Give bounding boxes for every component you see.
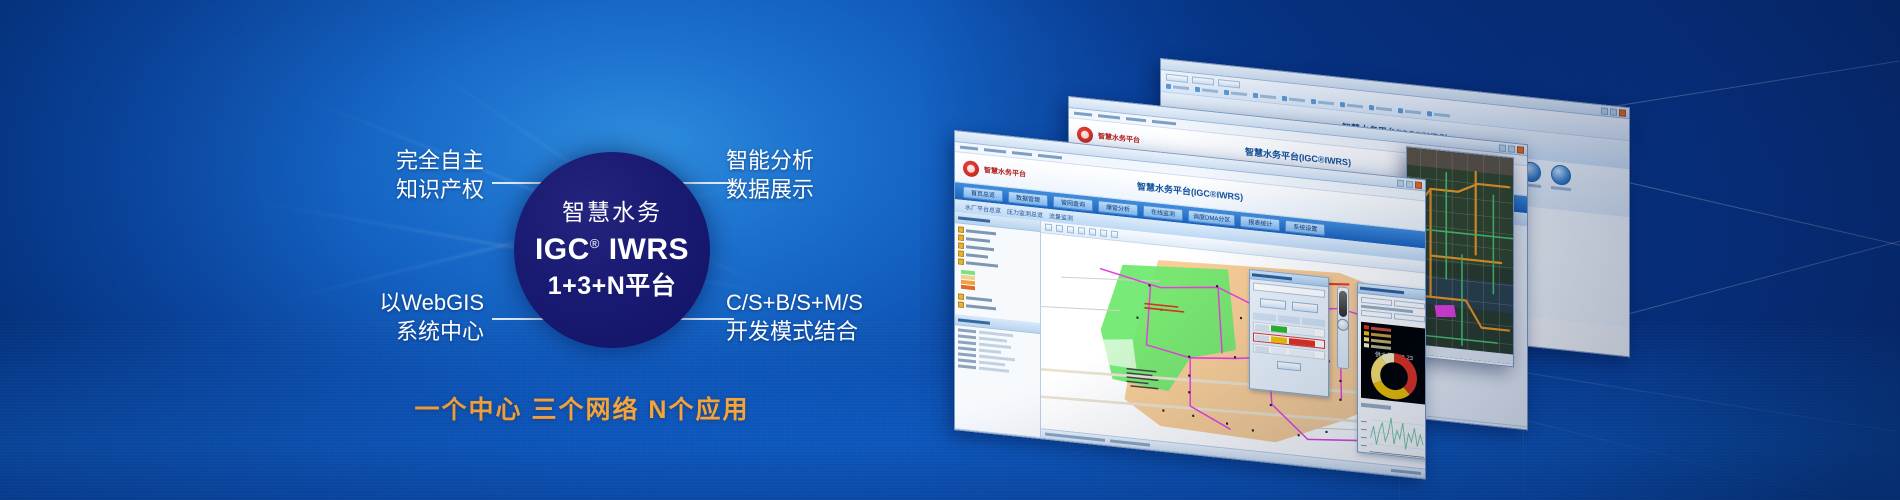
app-title-front: 智慧水务平台(IGC®IWRS) [1137, 179, 1243, 203]
hub-platform-model: 1+3+N平台 [548, 274, 677, 299]
gis-left-panels[interactable] [955, 212, 1041, 437]
water-balance-panel[interactable]: 供水量 152.23 [1357, 282, 1425, 460]
donut-chart-container: 供水量 152.23 [1361, 322, 1425, 405]
nav-tab-monitoring[interactable]: 在线监测 [1143, 204, 1183, 220]
hub-product-name: IGC® IWRS [535, 235, 689, 265]
feature-bottom-left-line1: 以WebGIS [379, 290, 484, 315]
dialog-execute-button[interactable] [1277, 361, 1301, 372]
screenshot-stack: 智慧水务平台(IGC®IWRS) 智慧水务平台 智慧水务平台(IGC®IWRS)… [960, 0, 1900, 500]
identify-tool-icon[interactable] [1100, 229, 1107, 237]
registered-mark-icon: ® [590, 236, 600, 251]
zoom-out-tool-icon[interactable] [1067, 226, 1074, 234]
connector-line-bottom-right [674, 318, 734, 320]
map-canvas[interactable]: 供水量 152.23 [1041, 233, 1425, 468]
feature-top-left: 完全自主 知识产权 [364, 146, 484, 204]
feature-top-left-line2: 知识产权 [364, 175, 484, 204]
measure-tool-icon[interactable] [1089, 228, 1096, 236]
window-front-browser-gis[interactable]: 智慧水务平台 智慧水务平台(IGC®IWRS) 首页总览 数据管理 管网查询 爆… [954, 130, 1426, 480]
window-controls-back[interactable] [1601, 107, 1626, 117]
feature-top-right: 智能分析 数据展示 [726, 146, 814, 204]
nav-tab-data[interactable]: 数据管理 [1008, 190, 1048, 206]
feature-top-left-line1: 完全自主 [396, 148, 484, 173]
tagline: 一个中心 三个网络 N个应用 [352, 390, 812, 426]
line-chart-pressure [1358, 408, 1425, 459]
feature-bottom-left-line2: 系统中心 [352, 317, 484, 346]
feature-bottom-right: C/S+B/S+M/S 开发模式结合 [726, 288, 863, 346]
zoom-slider-knob[interactable] [1339, 290, 1347, 317]
platform-hub-circle: 智慧水务 IGC® IWRS 1+3+N平台 [514, 152, 710, 348]
burst-analysis-dialog[interactable] [1249, 269, 1329, 397]
dialog-confirm-button[interactable] [1260, 298, 1286, 310]
select-tool-icon[interactable] [1078, 227, 1085, 235]
map-navigation-control-front[interactable] [1337, 286, 1349, 369]
pan-pad-icon[interactable] [1337, 318, 1349, 331]
property-list [955, 325, 1040, 379]
gis-map-area[interactable]: 供水量 152.23 [1041, 221, 1425, 477]
brand-text-front: 智慧水务平台 [984, 165, 1026, 179]
hero-banner: 完全自主 知识产权 以WebGIS 系统中心 智能分析 数据展示 C/S+B/S… [0, 0, 1900, 500]
brand-text-middle: 智慧水务平台 [1098, 131, 1140, 145]
platform-diagram: 完全自主 知识产权 以WebGIS 系统中心 智能分析 数据展示 C/S+B/S… [0, 0, 980, 500]
sub-tab-flow-monitoring[interactable]: 流量监测 [1049, 211, 1073, 223]
nav-tab-burst-analysis[interactable]: 爆管分析 [1098, 200, 1138, 216]
nav-tab-settings[interactable]: 系统设置 [1285, 219, 1325, 235]
nav-tab-home[interactable]: 首页总览 [963, 185, 1003, 201]
pan-tool-icon[interactable] [1045, 224, 1052, 232]
window-controls-middle[interactable] [1499, 144, 1524, 154]
nav-tab-reports[interactable]: 报表统计 [1240, 215, 1280, 231]
feature-bottom-right-line2: 开发模式结合 [726, 317, 863, 346]
hub-title: 智慧水务 [562, 201, 662, 224]
company-logo-icon [963, 159, 979, 177]
feature-top-right-line2: 数据展示 [726, 175, 814, 204]
donut-chart-legend [1364, 325, 1391, 350]
feature-bottom-right-line1: C/S+B/S+M/S [726, 290, 863, 315]
feature-bottom-left: 以WebGIS 系统中心 [352, 288, 484, 346]
zoom-in-tool-icon[interactable] [1056, 225, 1063, 233]
feature-top-right-line1: 智能分析 [726, 148, 814, 173]
hub-product-igc: IGC [535, 233, 590, 266]
donut-chart [1371, 351, 1417, 402]
nav-tab-pipe-query[interactable]: 管网查询 [1053, 195, 1093, 211]
window-controls-front[interactable] [1397, 179, 1422, 189]
dialog-cancel-button[interactable] [1292, 301, 1318, 313]
company-logo-icon [1077, 125, 1093, 143]
hub-product-iwrs: IWRS [609, 233, 689, 266]
print-tool-icon[interactable] [1111, 230, 1118, 238]
